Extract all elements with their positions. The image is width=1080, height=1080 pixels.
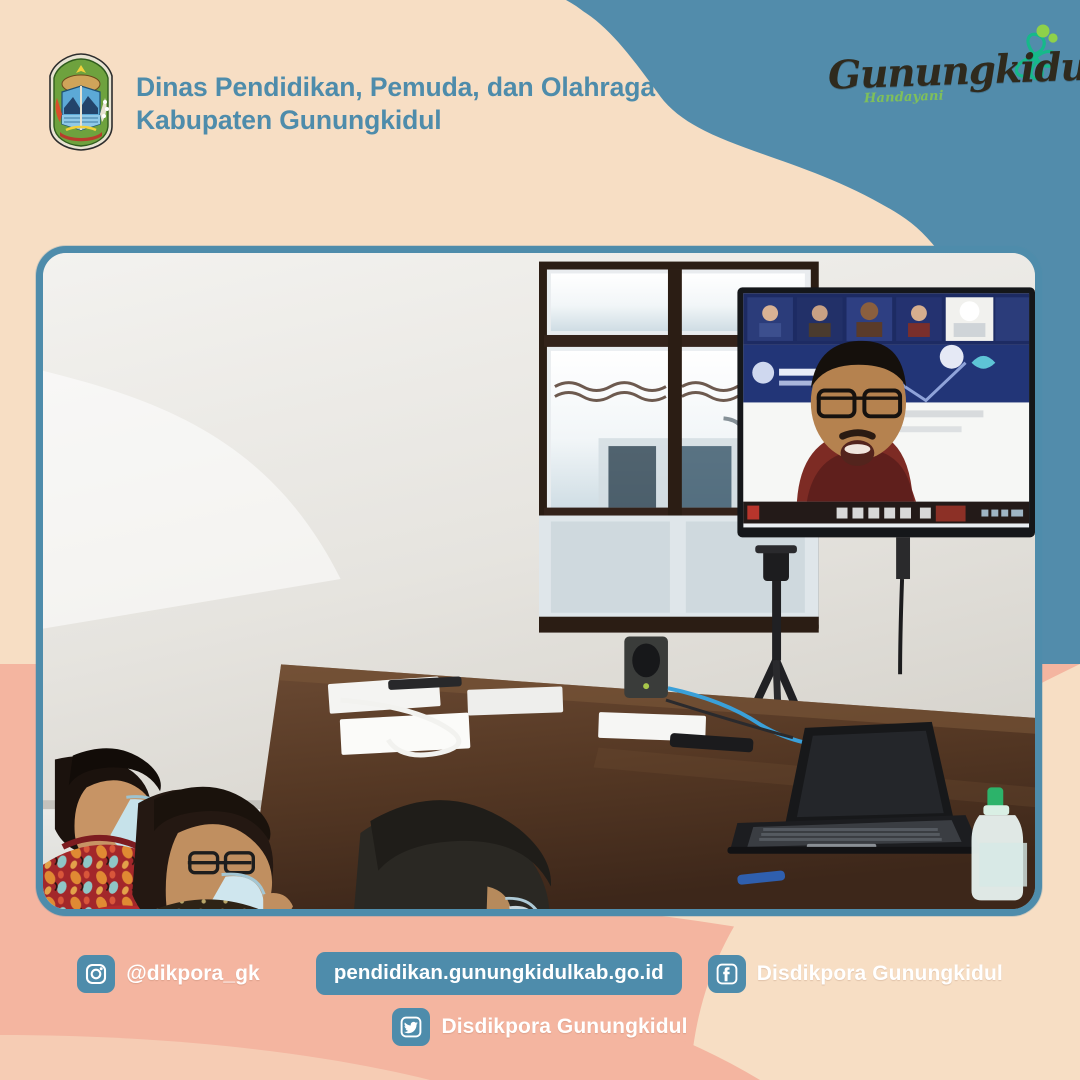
instagram-handle: @dikpora_gk: [126, 962, 260, 986]
photo-frame: [36, 246, 1042, 916]
page-title-line-2: Kabupaten Gunungkidul: [136, 104, 655, 137]
social-links-row-1: @dikpora_gk pendidikan.gunungkidulkab.go…: [0, 952, 1080, 995]
twitter-icon: [392, 1008, 430, 1046]
twitter-page-name: Disdikpora Gunungkidul: [441, 1015, 687, 1039]
facebook-icon: [708, 955, 746, 993]
facebook-page-name: Disdikpora Gunungkidul: [757, 962, 1003, 986]
instagram-link[interactable]: @dikpora_gk: [77, 955, 260, 993]
header: Dinas Pendidikan, Pemuda, dan Olahraga K…: [44, 52, 655, 152]
facebook-link[interactable]: Disdikpora Gunungkidul: [708, 955, 1003, 993]
page-title-line-1: Dinas Pendidikan, Pemuda, dan Olahraga: [136, 71, 655, 104]
poster-canvas: Dinas Pendidikan, Pemuda, dan Olahraga K…: [0, 0, 1080, 1080]
desk-speaker: [624, 637, 668, 699]
meeting-photo: [43, 253, 1035, 909]
social-links-row-2: Disdikpora Gunungkidul: [0, 1008, 1080, 1046]
instagram-icon: [77, 955, 115, 993]
gunungkidul-regency-crest-icon: [44, 52, 118, 152]
twitter-link[interactable]: Disdikpora Gunungkidul: [392, 1008, 687, 1046]
gunungkidul-brand-logo: Gunungkidul Handayani: [828, 38, 1058, 134]
brand-tagline: Handayani: [864, 89, 944, 107]
website-link[interactable]: pendidikan.gunungkidulkab.go.id: [316, 952, 682, 995]
header-title-block: Dinas Pendidikan, Pemuda, dan Olahraga K…: [136, 52, 655, 138]
